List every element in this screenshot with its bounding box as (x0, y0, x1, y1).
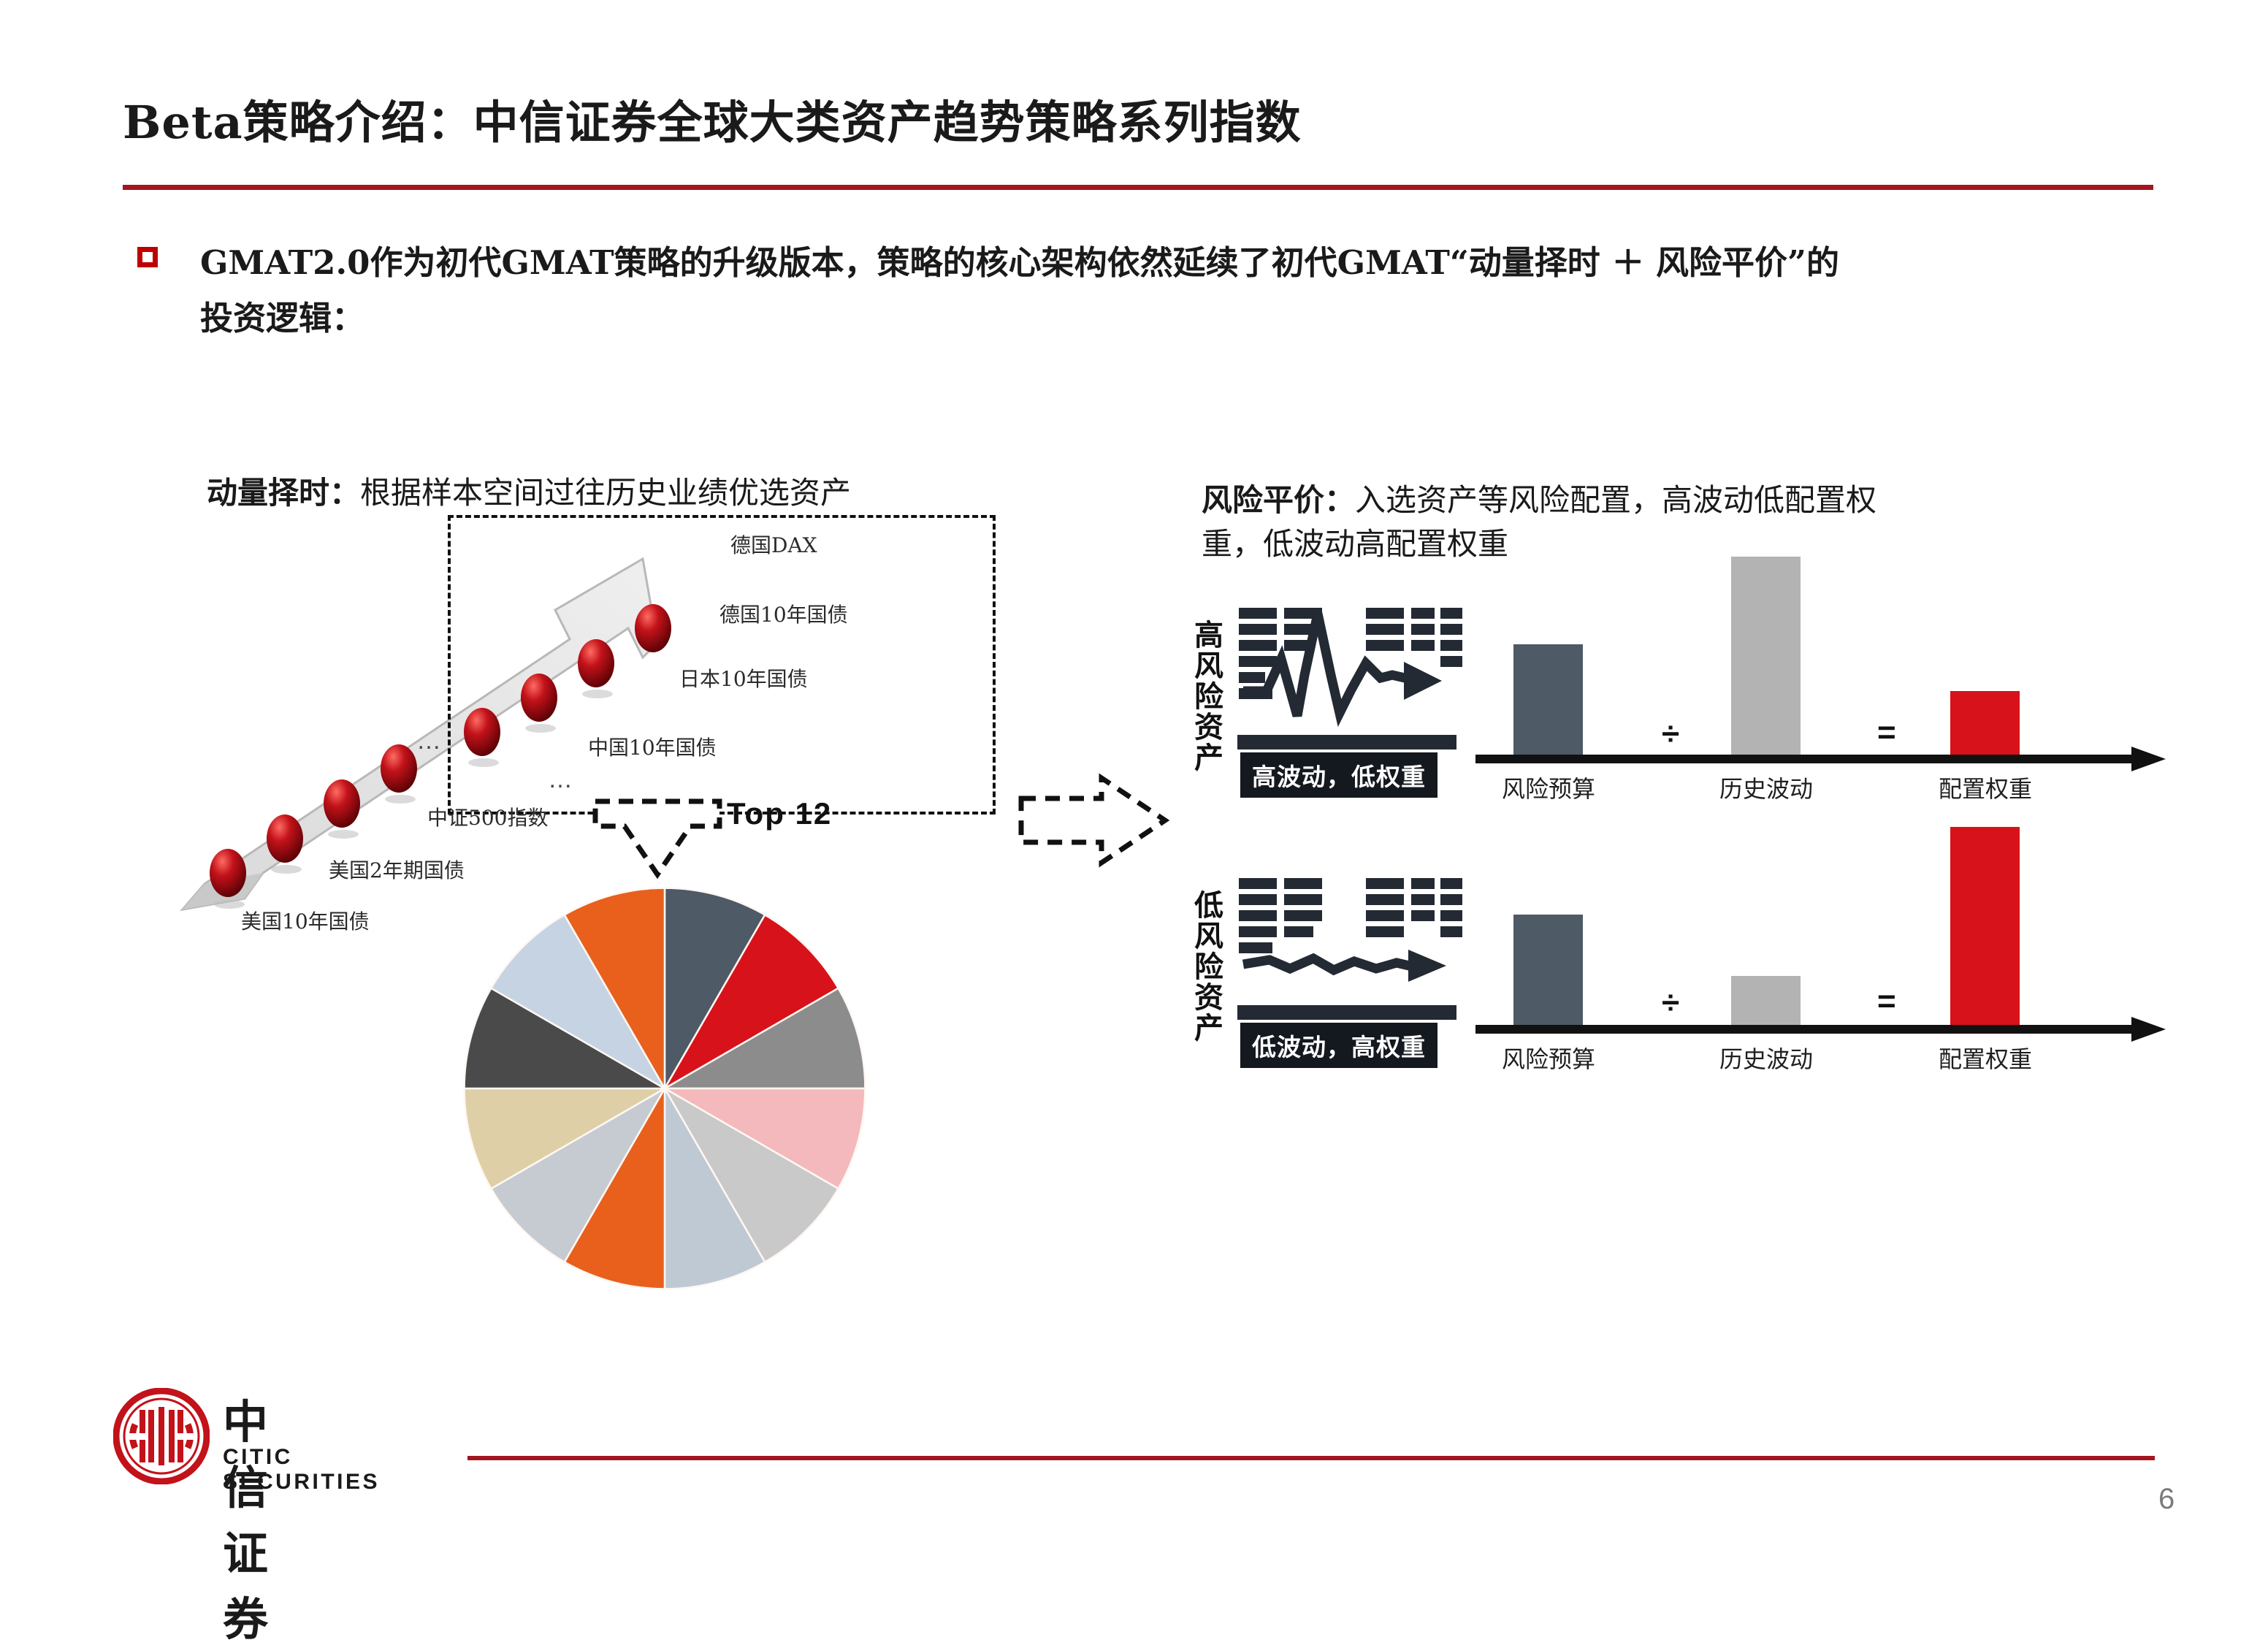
high-volatility-waveform-icon (1237, 605, 1464, 751)
divide-symbol-low: ÷ (1662, 985, 1679, 1021)
page-number: 6 (2158, 1483, 2175, 1516)
momentum-heading-bold: 动量择时： (207, 475, 360, 511)
bullet-text-line-1: GMAT2.0作为初代GMAT策略的升级版本，策略的核心架构依然延续了初代GMA… (200, 235, 2153, 291)
allocation-pie-chart (460, 884, 869, 1297)
asset-label-csi500: 中证500指数 (427, 802, 548, 831)
bar-label-risk-budget-low: 风险预算 (1490, 1041, 1607, 1075)
momentum-diagram: … … 德国DAX 德国10年国债 日本10年国债 中国10年国债 中证500指… (175, 541, 1147, 1293)
square-bullet-icon (137, 247, 158, 267)
low-volatility-waveform-icon (1237, 875, 1464, 1021)
footer-logo: 中信证券 CITIC SECURITIES (113, 1388, 210, 1488)
vertical-label-low-risk: 低风险资产 (1186, 890, 1226, 1043)
asset-label-us-10y: 美国10年国债 (241, 906, 370, 935)
footer-divider (467, 1456, 2155, 1460)
high-risk-bar-chart (1475, 536, 2169, 785)
bar-label-risk-budget-high: 风险预算 (1490, 771, 1607, 804)
asset-label-de-dax: 德国DAX (730, 530, 817, 559)
bar-label-hist-vol-low: 历史波动 (1708, 1041, 1825, 1075)
asset-label-de-10y: 德国10年国债 (719, 599, 848, 628)
equals-symbol-high: = (1877, 714, 1896, 751)
low-risk-bar-chart (1475, 806, 2169, 1055)
momentum-heading-rest: 根据样本空间过往历史业绩优选资产 (360, 475, 851, 511)
riskparity-heading-bold: 风险平价： (1202, 482, 1355, 518)
asset-label-jp-10y: 日本10年国债 (679, 663, 808, 693)
flow-right-arrow-icon (1015, 771, 1172, 873)
asset-label-us-2y: 美国2年期国债 (329, 855, 465, 884)
divide-symbol-high: ÷ (1662, 716, 1679, 752)
bar-label-weight-low: 配置权重 (1927, 1041, 2044, 1075)
callout-low-volatility: 低波动，高权重 (1240, 1023, 1437, 1068)
citic-securities-logo-icon (113, 1388, 210, 1484)
riskparity-heading-line2: 重，低波动高配置权重 (1202, 526, 1508, 562)
vertical-label-high-risk: 高风险资产 (1186, 619, 1226, 773)
title-divider (123, 185, 2153, 190)
ellipsis-right: … (548, 766, 576, 794)
asset-label-cn-10y: 中国10年国债 (588, 732, 717, 761)
bar-label-hist-vol-high: 历史波动 (1708, 771, 1825, 804)
equals-symbol-low: = (1877, 983, 1896, 1020)
top12-label: Top 12 (727, 796, 832, 831)
footer-company-name-en: CITIC SECURITIES (223, 1445, 380, 1495)
footer-company-name-cn: 中信证券 (223, 1385, 270, 1648)
funnel-down-arrow-icon (581, 793, 734, 884)
riskparity-heading-rest: 入选资产等风险配置，高波动低配置权 (1355, 482, 1876, 518)
momentum-section-heading: 动量择时：根据样本空间过往历史业绩优选资产 (207, 471, 1120, 515)
riskparity-diagram: 高风险资产 高波动，低权重 (1183, 562, 2177, 1118)
ellipsis-left: … (416, 727, 444, 755)
callout-high-volatility: 高波动，低权重 (1240, 752, 1437, 798)
slide-canvas: Beta策略介绍：中信证券全球大类资产趋势策略系列指数 GMAT2.0作为初代G… (0, 0, 2268, 1571)
bullet-block: GMAT2.0作为初代GMAT策略的升级版本，策略的核心架构依然延续了初代GMA… (137, 235, 2153, 346)
page-title: Beta策略介绍：中信证券全球大类资产趋势策略系列指数 (123, 86, 2161, 159)
title-bar: Beta策略介绍：中信证券全球大类资产趋势策略系列指数 (123, 86, 2161, 159)
bar-label-weight-high: 配置权重 (1927, 771, 2044, 804)
bullet-text-line-2: 投资逻辑： (200, 291, 2153, 346)
